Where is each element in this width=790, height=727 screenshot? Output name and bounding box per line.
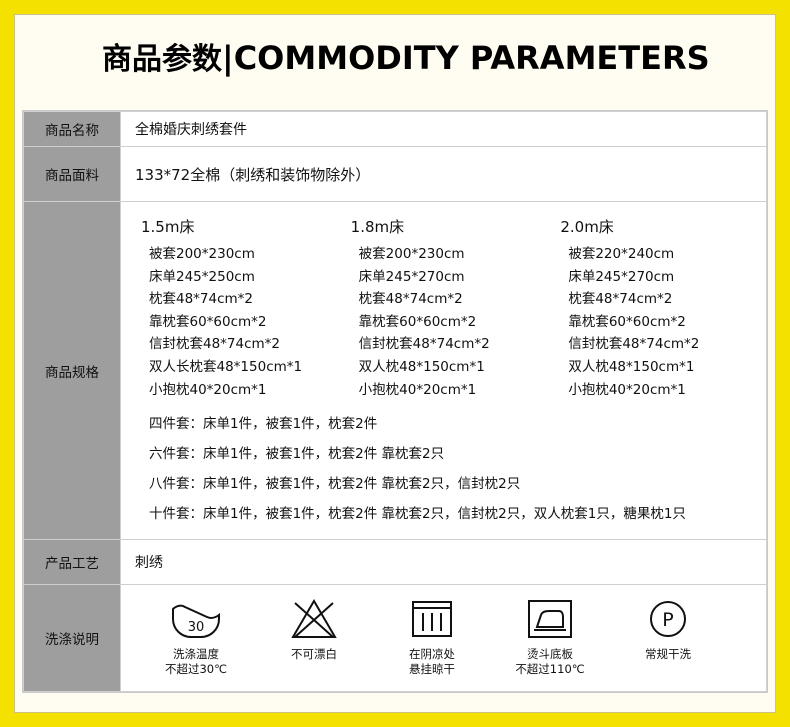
wash-temp-cap2: 不超过30℃: [151, 662, 241, 677]
spec-col1-line-3: 枕套48*74cm*2: [149, 288, 339, 311]
row-label-fabric: 商品面料: [24, 147, 121, 202]
spec-col3-line-5: 信封枕套48*74cm*2: [568, 333, 758, 356]
page-title: 商品参数|COMMODITY PARAMETERS: [102, 34, 710, 78]
no-bleach-triangle-icon: [283, 595, 345, 641]
wash-item-no-bleach: 不可漂白: [269, 595, 359, 662]
spec-columns: 1.5m床 被套200*230cm 床单245*250cm 枕套48*74cm*…: [121, 212, 766, 403]
spec-col2-line-4: 靠枕套60*60cm*2: [359, 311, 549, 334]
no-bleach-cap1: 不可漂白: [269, 647, 359, 662]
parameters-table: 商品名称 全棉婚庆刺绣套件 商品面料 133*72全棉（刺绣和装饰物除外） 商品…: [23, 111, 767, 692]
spec-col1-line-4: 靠枕套60*60cm*2: [149, 311, 339, 334]
spec-col3-line-1: 被套220*240cm: [568, 243, 758, 266]
spec-column-1: 1.5m床 被套200*230cm 床单245*250cm 枕套48*74cm*…: [137, 216, 347, 401]
svg-text:P: P: [662, 609, 673, 631]
spec-col3-head: 2.0m床: [560, 216, 758, 237]
dryclean-p-icon: P: [637, 595, 699, 641]
page-title-cn: 商品参数: [102, 42, 222, 77]
row-value-wash: 30 洗涤温度 不超过30℃: [121, 585, 767, 692]
spec-col1-line-7: 小抱枕40*20cm*1: [149, 379, 339, 402]
spec-col1-head: 1.5m床: [141, 216, 339, 237]
set-line-4: 四件套：床单1件，被套1件，枕套2件: [149, 409, 766, 439]
spec-sets: 四件套：床单1件，被套1件，枕套2件 六件套：床单1件，被套1件，枕套2件 靠枕…: [121, 403, 766, 533]
row-value-fabric: 133*72全棉（刺绣和装饰物除外）: [121, 147, 767, 202]
spec-column-2: 1.8m床 被套200*230cm 床单245*270cm 枕套48*74cm*…: [347, 216, 557, 401]
page-root: 商品参数|COMMODITY PARAMETERS 商品名称 全棉婚庆刺绣套件 …: [0, 0, 790, 727]
spec-col2-line-2: 床单245*270cm: [359, 266, 549, 289]
row-label-spec: 商品规格: [24, 202, 121, 540]
page-title-en: COMMODITY PARAMETERS: [234, 39, 710, 77]
row-label-wash: 洗涤说明: [24, 585, 121, 692]
iron-low-icon: [519, 595, 581, 641]
spec-col1-line-2: 床单245*250cm: [149, 266, 339, 289]
dryclean-cap1: 常规干洗: [623, 647, 713, 662]
table-row-spec: 商品规格 1.5m床 被套200*230cm 床单245*250cm 枕套48*…: [24, 202, 767, 540]
wash-item-hang-dry: 在阴凉处 悬挂晾干: [387, 595, 477, 677]
hang-dry-shade-icon: [401, 595, 463, 641]
hang-dry-cap2: 悬挂晾干: [387, 662, 477, 677]
iron-cap2: 不超过110℃: [505, 662, 595, 677]
spec-block: 1.5m床 被套200*230cm 床单245*250cm 枕套48*74cm*…: [121, 202, 766, 539]
row-label-craft: 产品工艺: [24, 540, 121, 585]
row-value-craft: 刺绣: [121, 540, 767, 585]
wash-icon-row: 30 洗涤温度 不超过30℃: [135, 595, 752, 677]
spec-col2-line-6: 双人枕48*150cm*1: [359, 356, 549, 379]
set-line-10: 十件套：床单1件，被套1件，枕套2件 靠枕套2只，信封枕2只，双人枕套1只，糖果…: [149, 499, 766, 529]
svg-text:30: 30: [188, 620, 205, 635]
table-row-wash: 洗涤说明 30 洗涤温度 不超过30℃: [24, 585, 767, 692]
spec-col3-line-3: 枕套48*74cm*2: [568, 288, 758, 311]
table-row-name: 商品名称 全棉婚庆刺绣套件: [24, 112, 767, 147]
spec-col1-line-5: 信封枕套48*74cm*2: [149, 333, 339, 356]
hang-dry-cap1: 在阴凉处: [387, 647, 477, 662]
set-line-8: 八件套：床单1件，被套1件，枕套2件 靠枕套2只，信封枕2只: [149, 469, 766, 499]
row-value-spec: 1.5m床 被套200*230cm 床单245*250cm 枕套48*74cm*…: [121, 202, 767, 540]
set-line-6: 六件套：床单1件，被套1件，枕套2件 靠枕套2只: [149, 439, 766, 469]
wash-temp-cap1: 洗涤温度: [151, 647, 241, 662]
table-row-craft: 产品工艺 刺绣: [24, 540, 767, 585]
page-title-separator: |: [222, 39, 234, 77]
spec-col2-line-3: 枕套48*74cm*2: [359, 288, 549, 311]
spec-col2-line-5: 信封枕套48*74cm*2: [359, 333, 549, 356]
spec-col2-line-7: 小抱枕40*20cm*1: [359, 379, 549, 402]
spec-col1-line-6: 双人长枕套48*150cm*1: [149, 356, 339, 379]
iron-cap1: 烫斗底板: [505, 647, 595, 662]
spec-col2-line-1: 被套200*230cm: [359, 243, 549, 266]
parameters-table-wrapper: 商品名称 全棉婚庆刺绣套件 商品面料 133*72全棉（刺绣和装饰物除外） 商品…: [22, 110, 768, 693]
spec-col3-line-4: 靠枕套60*60cm*2: [568, 311, 758, 334]
page-header: 商品参数|COMMODITY PARAMETERS: [20, 20, 770, 92]
wash-tub-30-icon: 30: [165, 595, 227, 641]
row-value-name: 全棉婚庆刺绣套件: [121, 112, 767, 147]
wash-item-iron: 烫斗底板 不超过110℃: [505, 595, 595, 677]
spec-col2-head: 1.8m床: [351, 216, 549, 237]
spec-col1-line-1: 被套200*230cm: [149, 243, 339, 266]
wash-item-dryclean: P 常规干洗: [623, 595, 713, 662]
spec-col3-line-2: 床单245*270cm: [568, 266, 758, 289]
wash-item-temperature: 30 洗涤温度 不超过30℃: [151, 595, 241, 677]
spec-col3-line-7: 小抱枕40*20cm*1: [568, 379, 758, 402]
row-label-name: 商品名称: [24, 112, 121, 147]
table-row-fabric: 商品面料 133*72全棉（刺绣和装饰物除外）: [24, 147, 767, 202]
spec-column-3: 2.0m床 被套220*240cm 床单245*270cm 枕套48*74cm*…: [556, 216, 766, 401]
spec-col3-line-6: 双人枕48*150cm*1: [568, 356, 758, 379]
